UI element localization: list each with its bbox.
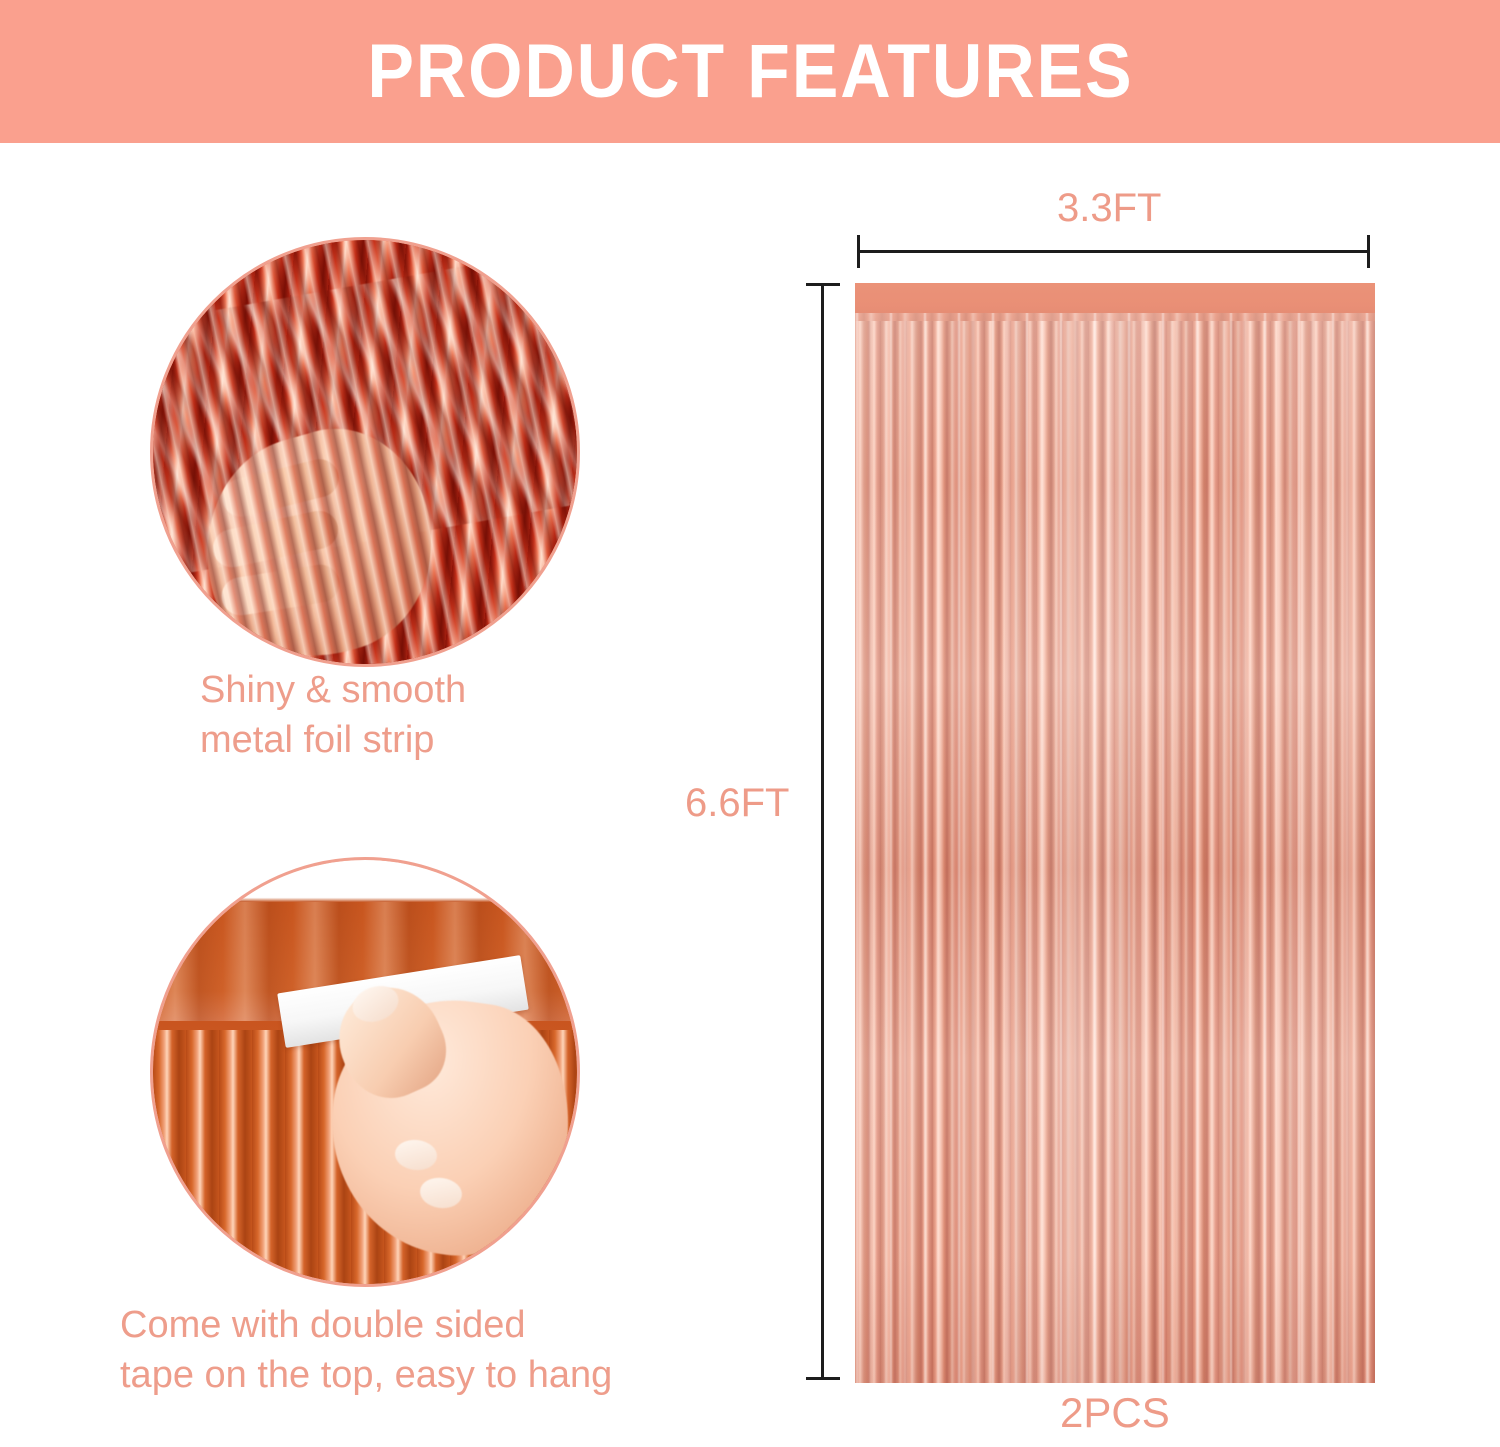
width-dimension-line (857, 250, 1370, 253)
page-title: PRODUCT FEATURES (367, 34, 1133, 110)
quantity-label: 2PCS (1060, 1392, 1170, 1434)
photo-clip-circle-1 (153, 240, 577, 664)
product-features-infographic: PRODUCT FEATURES Shiny & smooth metal fo… (0, 0, 1500, 1447)
height-dimension-cap-bottom (806, 1377, 840, 1380)
rose-gold-foil-fringe-curtain-photo (855, 283, 1375, 1383)
height-dimension-cap-top (806, 283, 840, 286)
curtain-shimmer-overlay (855, 313, 1375, 1383)
height-dimension-label: 6.6FT (685, 783, 789, 823)
photo-clip-circle-2 (153, 860, 577, 1284)
height-dimension-line (821, 283, 824, 1380)
feature-caption-shiny-foil: Shiny & smooth metal foil strip (200, 665, 620, 765)
hand-peeling-double-sided-tape-photo (150, 857, 580, 1287)
width-dimension-label: 3.3FT (1057, 188, 1161, 228)
foil-strips-foreground-1 (153, 240, 577, 664)
width-dimension-cap-left (857, 235, 860, 268)
width-dimension-cap-right (1367, 235, 1370, 268)
header-banner: PRODUCT FEATURES (0, 0, 1500, 143)
hand-holding-rose-gold-foil-strips-photo (150, 237, 580, 667)
feature-caption-double-sided-tape: Come with double sided tape on the top, … (120, 1300, 720, 1400)
